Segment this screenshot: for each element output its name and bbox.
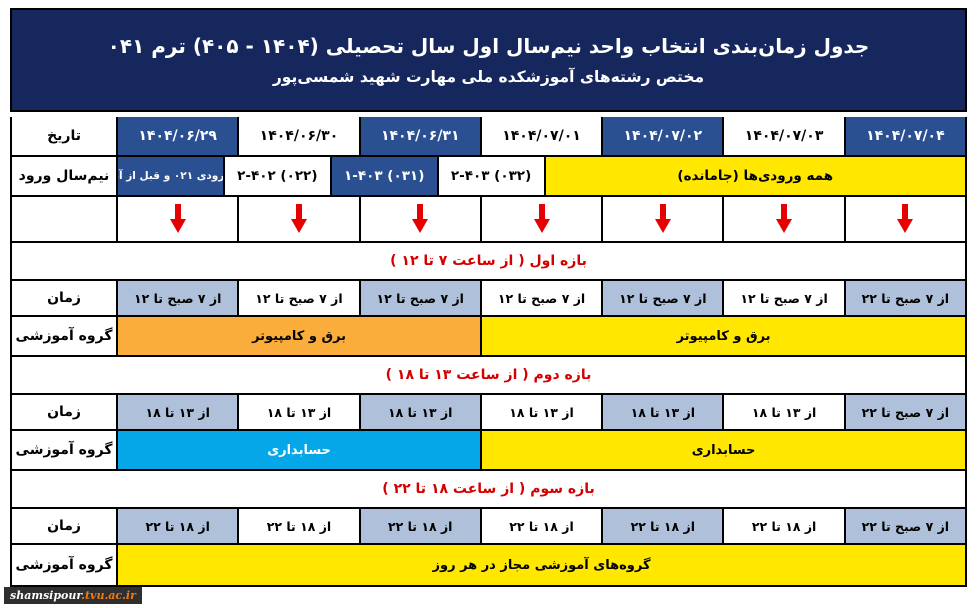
date-cell-5: ۱۴۰۴/۰۶/۳۱ <box>359 117 480 155</box>
time-cell-2-4: از ۱۳ تا ۱۸ <box>480 395 601 429</box>
entry-semester-cell-5: (۰۳۱) ۱-۴۰۳ <box>330 157 437 195</box>
time-cell-1-5: از ۷ صبح تا ۱۲ <box>359 281 480 315</box>
group-cell-third-full: گروه‌های آموزشی مجاز در هر روز <box>116 545 965 585</box>
page-subtitle: مختص رشته‌های آموزشکده ملی مهارت شهید شم… <box>273 68 704 86</box>
site-watermark: shamsipour.tvu.ac.ir <box>4 587 142 604</box>
page-title: جدول زمان‌بندی انتخاب واحد نیم‌سال اول س… <box>108 34 870 58</box>
row-label-time-second: زمان <box>12 395 116 429</box>
time-cell-3-3: از ۱۸ تا ۲۲ <box>601 509 722 543</box>
time-cell-3-5: از ۱۸ تا ۲۲ <box>359 509 480 543</box>
time-cell-3-2: از ۱۸ تا ۲۲ <box>722 509 843 543</box>
group-cell-second-right: حسابداری <box>116 431 480 469</box>
band-label-first: بازه اول ( از ساعت ۷ تا ۱۲ ) <box>12 243 965 279</box>
row-label-group-second: گروه آموزشی <box>12 431 116 469</box>
time-cell-3-4: از ۱۸ تا ۲۲ <box>480 509 601 543</box>
date-cell-4: ۱۴۰۴/۰۷/۰۱ <box>480 117 601 155</box>
arrow-row <box>12 197 965 243</box>
down-arrow-icon <box>288 204 310 234</box>
arrow-cell-3 <box>601 197 722 241</box>
arrow-cell-5 <box>359 197 480 241</box>
arrow-cell-4 <box>480 197 601 241</box>
group-cell-second-left: حسابداری <box>480 431 965 469</box>
time-cell-1-2: از ۷ صبح تا ۱۲ <box>722 281 843 315</box>
down-arrow-icon <box>652 204 674 234</box>
date-cell-2: ۱۴۰۴/۰۷/۰۳ <box>722 117 843 155</box>
time-row-third: از ۷ صبح تا ۲۲ از ۱۸ تا ۲۲ از ۱۸ تا ۲۲ ا… <box>12 509 965 545</box>
time-cell-1-3: از ۷ صبح تا ۱۲ <box>601 281 722 315</box>
time-cell-2-1: از ۷ صبح تا ۲۲ <box>844 395 965 429</box>
date-cell-6: ۱۴۰۴/۰۶/۳۰ <box>237 117 358 155</box>
band-row-third: بازه سوم ( از ساعت ۱۸ تا ۲۲ ) <box>12 471 965 509</box>
time-cell-2-7: از ۱۳ تا ۱۸ <box>116 395 237 429</box>
row-label-date: تاریخ <box>12 117 116 155</box>
row-label-time-first: زمان <box>12 281 116 315</box>
entry-semester-row: همه ورودی‌ها (جامانده) (۰۳۲) ۲-۴۰۳ (۰۳۱)… <box>12 157 965 197</box>
row-label-group-first: گروه آموزشی <box>12 317 116 355</box>
arrow-cell-2 <box>722 197 843 241</box>
time-cell-3-1: از ۷ صبح تا ۲۲ <box>844 509 965 543</box>
time-row-second: از ۷ صبح تا ۲۲ از ۱۳ تا ۱۸ از ۱۳ تا ۱۸ ا… <box>12 395 965 431</box>
down-arrow-icon <box>773 204 795 234</box>
entry-semester-cell-7: ورودی ۰۲۱ و قبل از آن <box>116 157 223 195</box>
row-label-time-third: زمان <box>12 509 116 543</box>
group-cell-first-left: برق و کامپیوتر <box>480 317 965 355</box>
arrow-cell-1 <box>844 197 965 241</box>
time-cell-1-7: از ۷ صبح تا ۱۲ <box>116 281 237 315</box>
down-arrow-icon <box>167 204 189 234</box>
group-row-second: حسابداری حسابداری گروه آموزشی <box>12 431 965 471</box>
time-cell-3-7: از ۱۸ تا ۲۲ <box>116 509 237 543</box>
entry-semester-merged-cell: همه ورودی‌ها (جامانده) <box>544 157 966 195</box>
row-label-entry-semester: نیم‌سال ورود <box>12 157 116 195</box>
watermark-name: shamsipour <box>10 589 81 602</box>
time-cell-2-6: از ۱۳ تا ۱۸ <box>237 395 358 429</box>
arrow-cell-6 <box>237 197 358 241</box>
band-row-first: بازه اول ( از ساعت ۷ تا ۱۲ ) <box>12 243 965 281</box>
group-cell-first-right: برق و کامپیوتر <box>116 317 480 355</box>
entry-semester-cell-4: (۰۳۲) ۲-۴۰۳ <box>437 157 544 195</box>
band-label-third: بازه سوم ( از ساعت ۱۸ تا ۲۲ ) <box>12 471 965 507</box>
time-cell-1-4: از ۷ صبح تا ۱۲ <box>480 281 601 315</box>
watermark-domain: .tvu.ac.ir <box>81 589 136 602</box>
time-cell-1-1: از ۷ صبح تا ۲۲ <box>844 281 965 315</box>
page-header-banner: جدول زمان‌بندی انتخاب واحد نیم‌سال اول س… <box>10 8 967 112</box>
schedule-table: ۱۴۰۴/۰۷/۰۴ ۱۴۰۴/۰۷/۰۳ ۱۴۰۴/۰۷/۰۲ ۱۴۰۴/۰۷… <box>10 117 967 587</box>
group-row-first: برق و کامپیوتر برق و کامپیوتر گروه آموزش… <box>12 317 965 357</box>
down-arrow-icon <box>409 204 431 234</box>
schedule-page: جدول زمان‌بندی انتخاب واحد نیم‌سال اول س… <box>0 0 977 608</box>
arrow-cell-7 <box>116 197 237 241</box>
date-row: ۱۴۰۴/۰۷/۰۴ ۱۴۰۴/۰۷/۰۳ ۱۴۰۴/۰۷/۰۲ ۱۴۰۴/۰۷… <box>12 117 965 157</box>
row-label-arrows <box>12 197 116 241</box>
down-arrow-icon <box>531 204 553 234</box>
band-label-second: بازه دوم ( از ساعت ۱۳ تا ۱۸ ) <box>12 357 965 393</box>
group-row-third: گروه‌های آموزشی مجاز در هر روز گروه آموز… <box>12 545 965 585</box>
date-cell-3: ۱۴۰۴/۰۷/۰۲ <box>601 117 722 155</box>
time-row-first: از ۷ صبح تا ۲۲ از ۷ صبح تا ۱۲ از ۷ صبح ت… <box>12 281 965 317</box>
row-label-group-third: گروه آموزشی <box>12 545 116 585</box>
entry-semester-cell-6: (۰۲۲) ۲-۴۰۲ <box>223 157 330 195</box>
time-cell-3-6: از ۱۸ تا ۲۲ <box>237 509 358 543</box>
time-cell-2-5: از ۱۳ تا ۱۸ <box>359 395 480 429</box>
band-row-second: بازه دوم ( از ساعت ۱۳ تا ۱۸ ) <box>12 357 965 395</box>
date-cell-7: ۱۴۰۴/۰۶/۲۹ <box>116 117 237 155</box>
down-arrow-icon <box>894 204 916 234</box>
time-cell-2-3: از ۱۳ تا ۱۸ <box>601 395 722 429</box>
date-cell-1: ۱۴۰۴/۰۷/۰۴ <box>844 117 965 155</box>
time-cell-1-6: از ۷ صبح تا ۱۲ <box>237 281 358 315</box>
time-cell-2-2: از ۱۳ تا ۱۸ <box>722 395 843 429</box>
